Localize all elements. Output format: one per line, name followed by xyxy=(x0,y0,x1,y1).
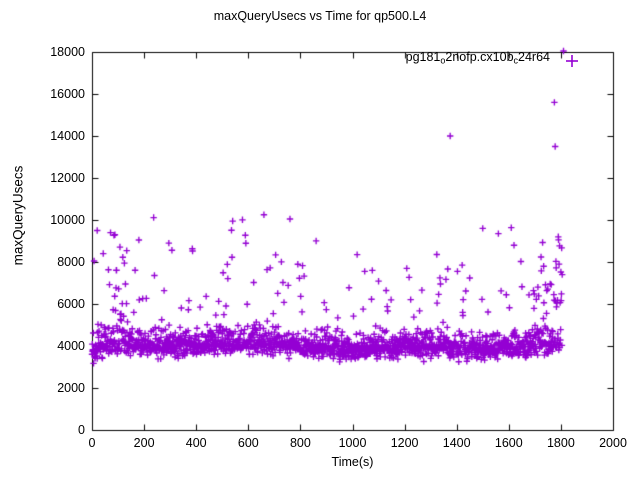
chart-page: maxQueryUsecs vs Time for qp500.L4 maxQu… xyxy=(0,0,640,480)
y-tick-label: 0 xyxy=(30,423,85,437)
legend-entry-label: pg181o2nofp.cx10bc24r64 xyxy=(300,50,550,66)
x-tick-label: 800 xyxy=(290,436,311,450)
y-tick-label: 12000 xyxy=(30,171,85,185)
y-tick-label: 2000 xyxy=(30,381,85,395)
x-axis-title: Time(s) xyxy=(92,455,613,469)
x-tick-label: 1800 xyxy=(547,436,575,450)
y-tick-label: 8000 xyxy=(30,255,85,269)
x-tick-label: 1000 xyxy=(339,436,367,450)
y-tick-label: 6000 xyxy=(30,297,85,311)
x-tick-label: 600 xyxy=(238,436,259,450)
x-tick-label: 2000 xyxy=(599,436,627,450)
y-axis-title: maxQueryUsecs xyxy=(11,126,26,306)
x-tick-label: 1400 xyxy=(443,436,471,450)
y-tick-label: 16000 xyxy=(30,87,85,101)
y-tick-label: 18000 xyxy=(30,45,85,59)
scatter-plot-canvas xyxy=(0,0,640,480)
y-tick-label: 10000 xyxy=(30,213,85,227)
x-tick-label: 200 xyxy=(134,436,155,450)
legend-marker-icon xyxy=(563,52,581,70)
x-tick-label: 400 xyxy=(186,436,207,450)
x-tick-label: 1600 xyxy=(495,436,523,450)
y-tick-label: 14000 xyxy=(30,129,85,143)
x-tick-label: 0 xyxy=(89,436,96,450)
x-tick-label: 1200 xyxy=(391,436,419,450)
y-tick-label: 4000 xyxy=(30,339,85,353)
